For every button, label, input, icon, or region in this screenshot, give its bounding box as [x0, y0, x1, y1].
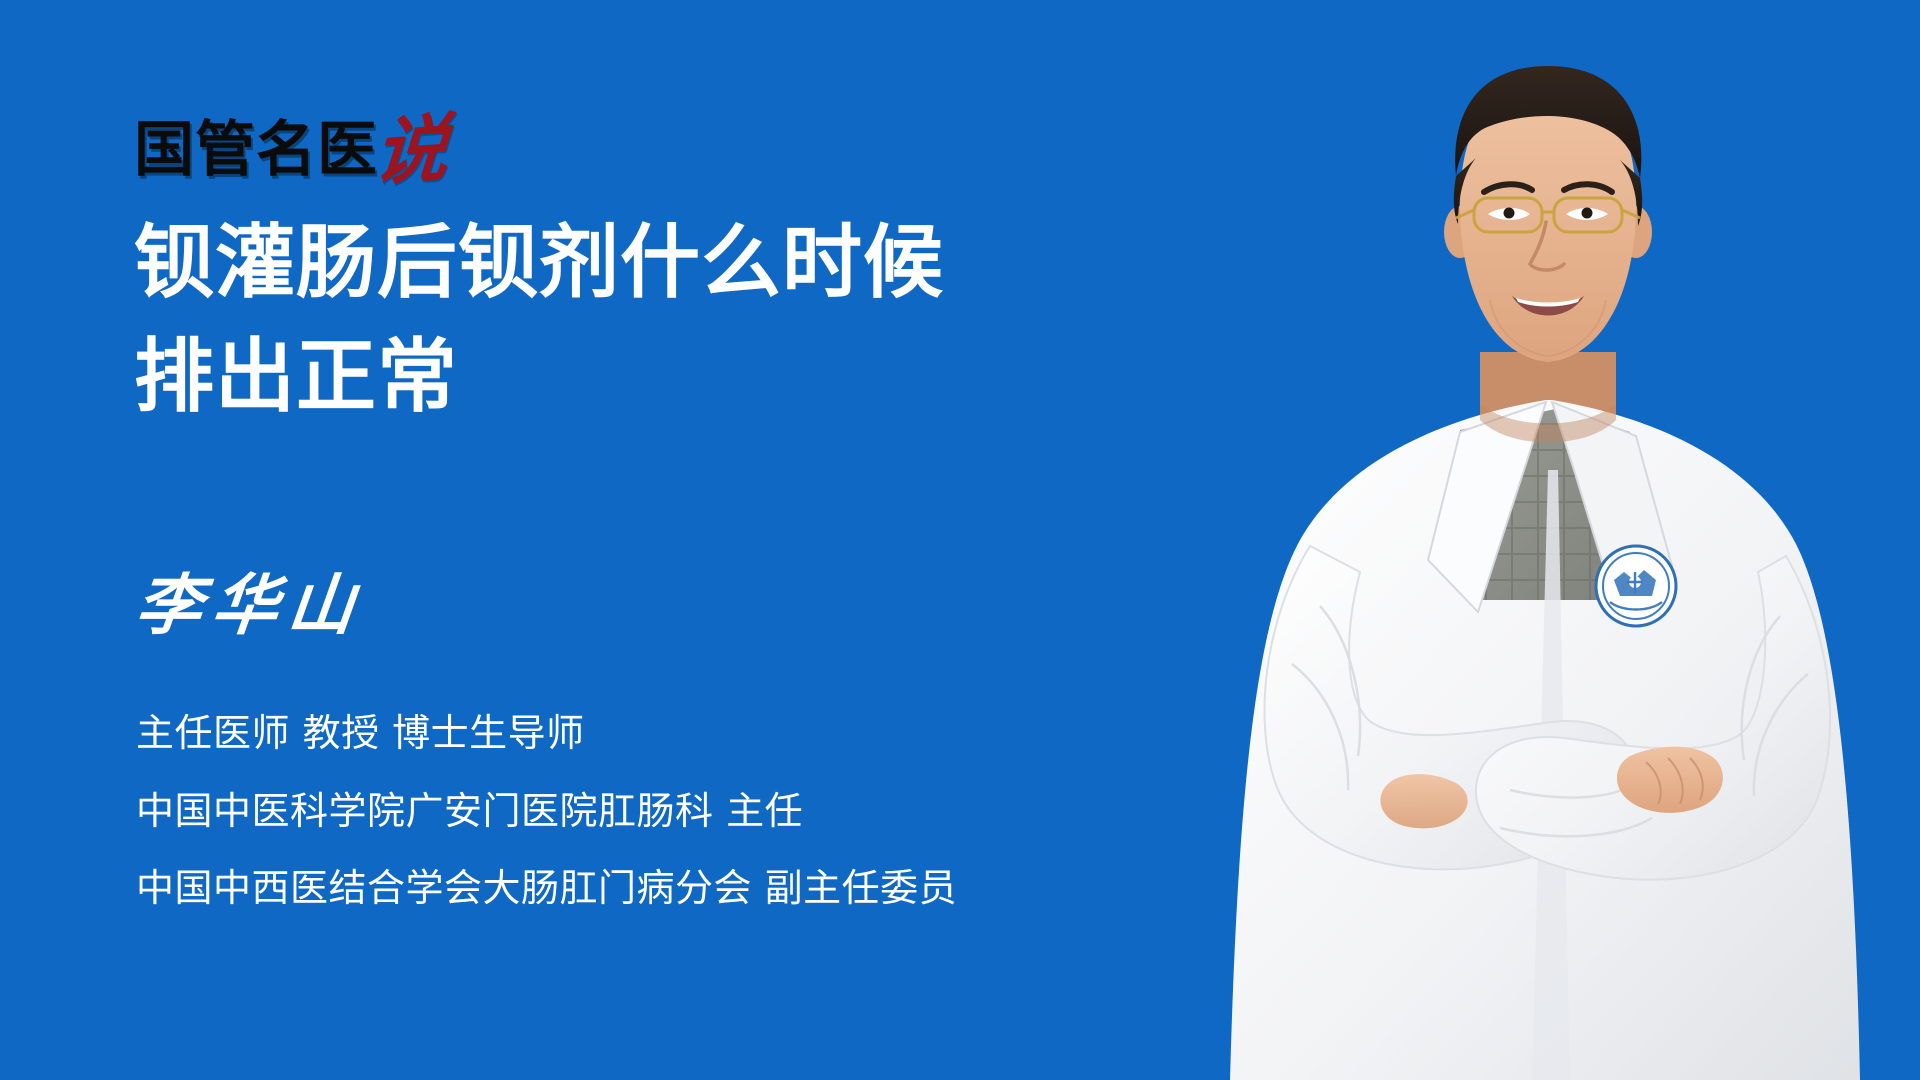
credential-line-1: 主任医师 教授 博士生导师 [136, 710, 957, 758]
page-title: 钡灌肠后钡剂什么时候 排出正常 [134, 206, 1254, 433]
brand-logo-accent-text: 说 [371, 112, 451, 191]
title-line-2: 排出正常 [134, 320, 1254, 434]
doctor-portrait [1160, 0, 1920, 1080]
doctor-credentials: 主任医师 教授 博士生导师 中国中医科学院广安门医院肛肠科 主任 中国中西医结合… [136, 710, 957, 913]
credential-line-3: 中国中西医结合学会大肠肛门病分会 副主任委员 [136, 865, 957, 913]
slide-canvas: 国管名医 说 钡灌肠后钡剂什么时候 排出正常 李华山 主任医师 教授 博士生导师… [0, 0, 1920, 1080]
brand-logo: 国管名医 说 [134, 108, 448, 180]
credential-line-2: 中国中医科学院广安门医院肛肠科 主任 [136, 788, 957, 836]
brand-logo-main-text: 国管名医 [134, 120, 378, 180]
hospital-emblem-badge [1596, 546, 1676, 626]
title-line-1: 钡灌肠后钡剂什么时候 [134, 206, 1254, 320]
doctor-name: 李华山 [133, 572, 368, 638]
